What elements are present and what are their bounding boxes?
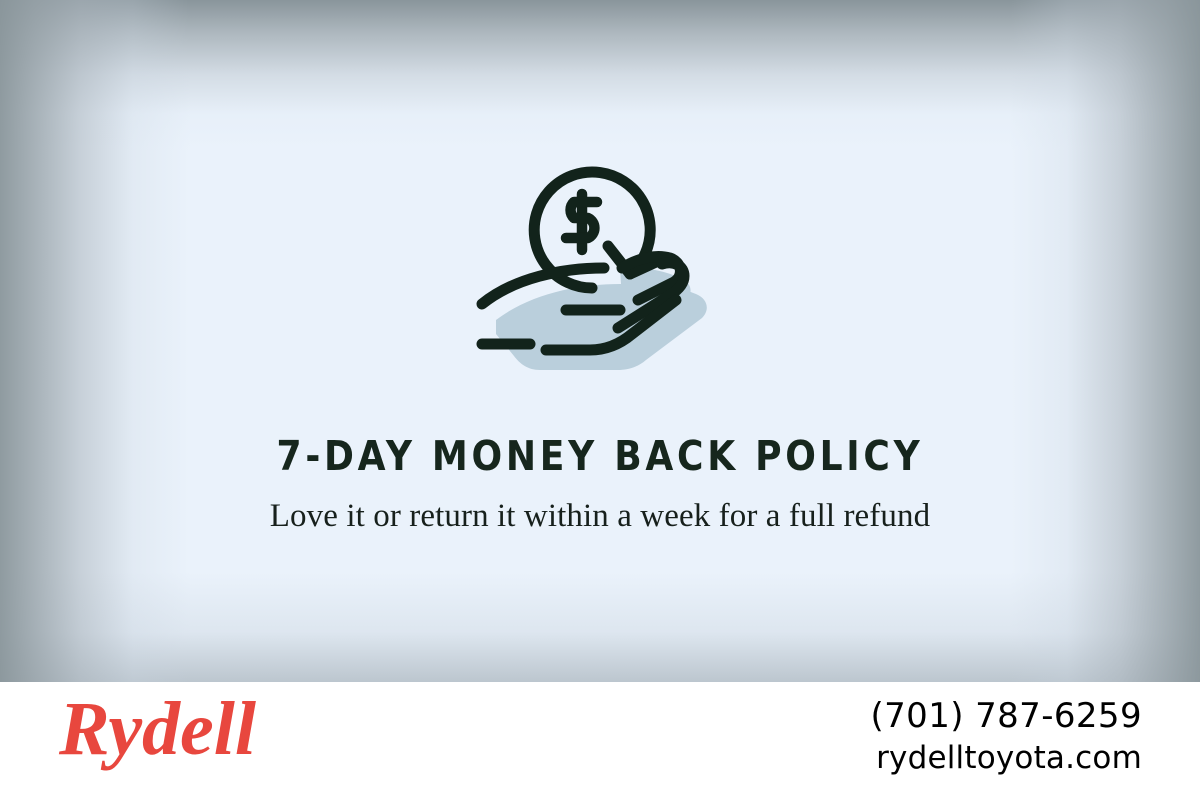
rydell-logo-text: Rydell (58, 688, 256, 771)
money-back-hand-icon-svg (470, 148, 730, 378)
contact-info: (701) 787-6259 rydelltoyota.com (870, 694, 1142, 778)
page-title: 7-DAY MONEY BACK POLICY (72, 432, 1128, 480)
money-back-hand-icon (0, 148, 1200, 378)
website-url[interactable]: rydelltoyota.com (870, 738, 1142, 778)
phone-number[interactable]: (701) 787-6259 (870, 694, 1142, 738)
promo-card: 7-DAY MONEY BACK POLICY Love it or retur… (0, 0, 1200, 800)
dollar-sign-icon (566, 194, 597, 250)
subtitle-text: Love it or return it within a week for a… (240, 495, 960, 538)
panel-vignette-bottom (0, 572, 1200, 682)
rydell-logo[interactable]: Rydell (55, 688, 315, 778)
rydell-logo-svg: Rydell (55, 688, 315, 778)
panel-vignette-top (0, 0, 1200, 150)
